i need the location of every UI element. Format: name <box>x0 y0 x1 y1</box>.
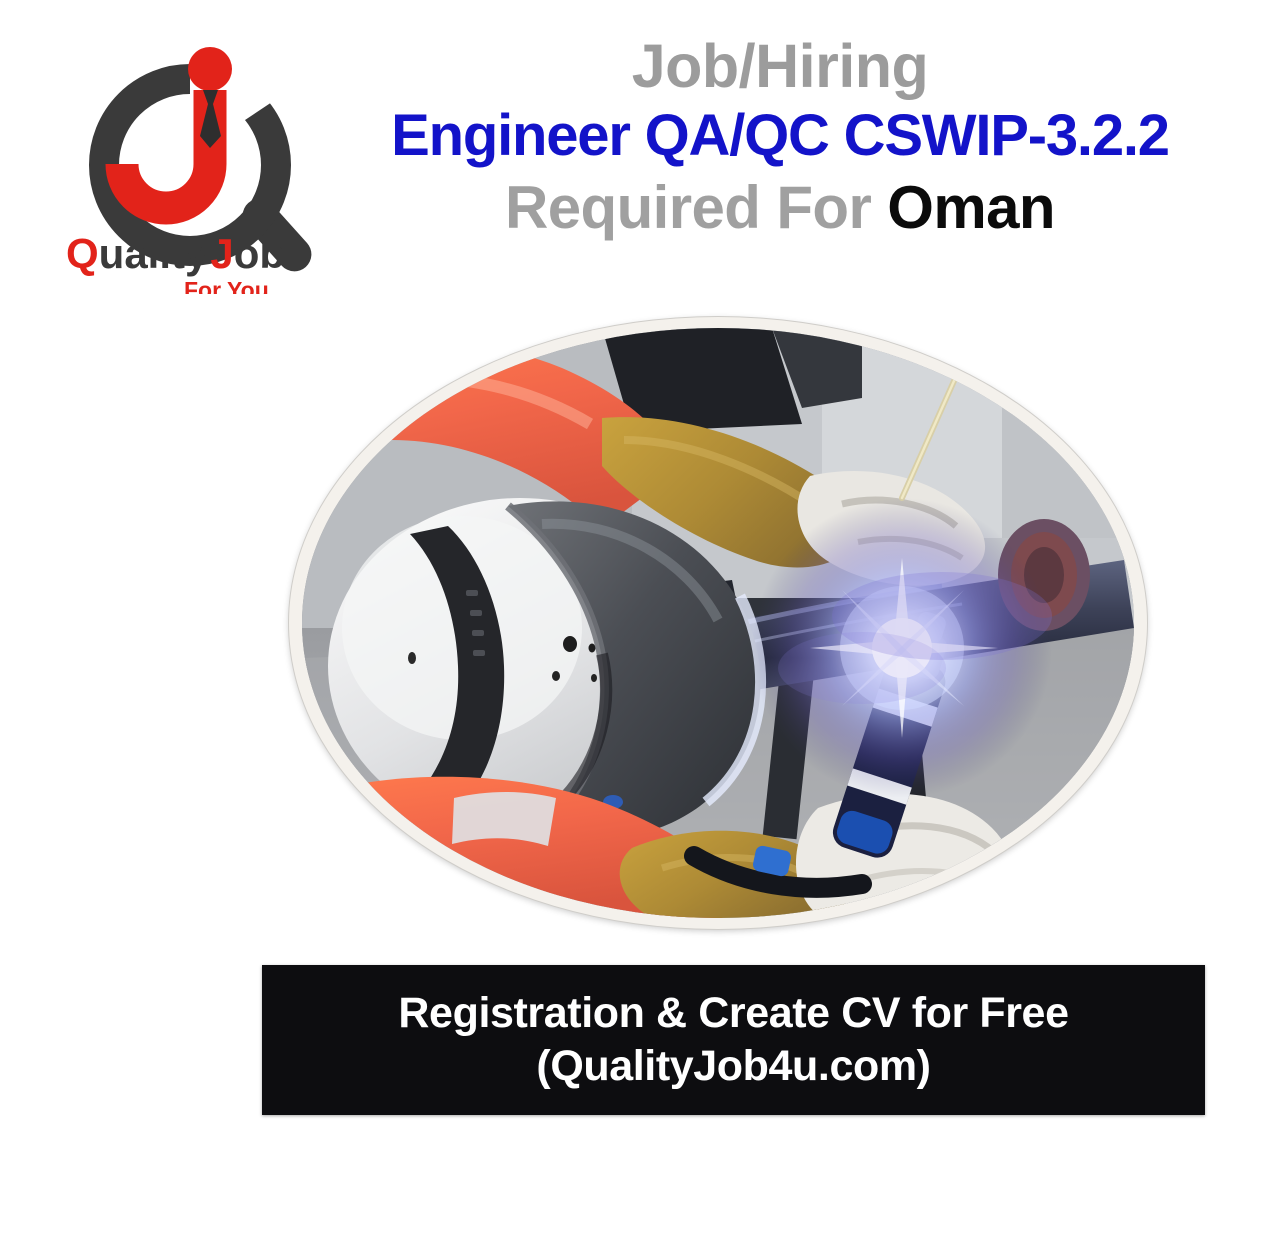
magnifier-job-logo-icon: QualityJob For You <box>62 32 362 294</box>
logo-tagline: For You <box>184 277 269 294</box>
headline-block: Job/Hiring Engineer QA/QC CSWIP-3.2.2 Re… <box>330 34 1230 241</box>
brand-logo[interactable]: QualityJob For You <box>62 32 362 294</box>
headline-country: Oman <box>887 174 1055 241</box>
headline-role: Engineer QA/QC CSWIP-3.2.2 <box>330 104 1230 169</box>
logo-wordmark: QualityJob <box>66 230 285 277</box>
welding-photo <box>302 328 1134 918</box>
headline-kicker: Job/Hiring <box>330 34 1230 100</box>
headline-required-prefix: Required For <box>505 174 871 241</box>
cta-banner[interactable]: Registration & Create CV for Free (Quali… <box>262 965 1205 1115</box>
welding-photo-illustration <box>302 328 1134 918</box>
poster-header: QualityJob For You Job/Hiring Engineer Q… <box>0 0 1280 300</box>
headline-required-line: Required For Oman <box>330 175 1230 241</box>
cta-headline: Registration & Create CV for Free <box>398 989 1068 1038</box>
cta-website[interactable]: (QualityJob4u.com) <box>536 1042 930 1091</box>
photo-oval-frame <box>289 317 1147 929</box>
